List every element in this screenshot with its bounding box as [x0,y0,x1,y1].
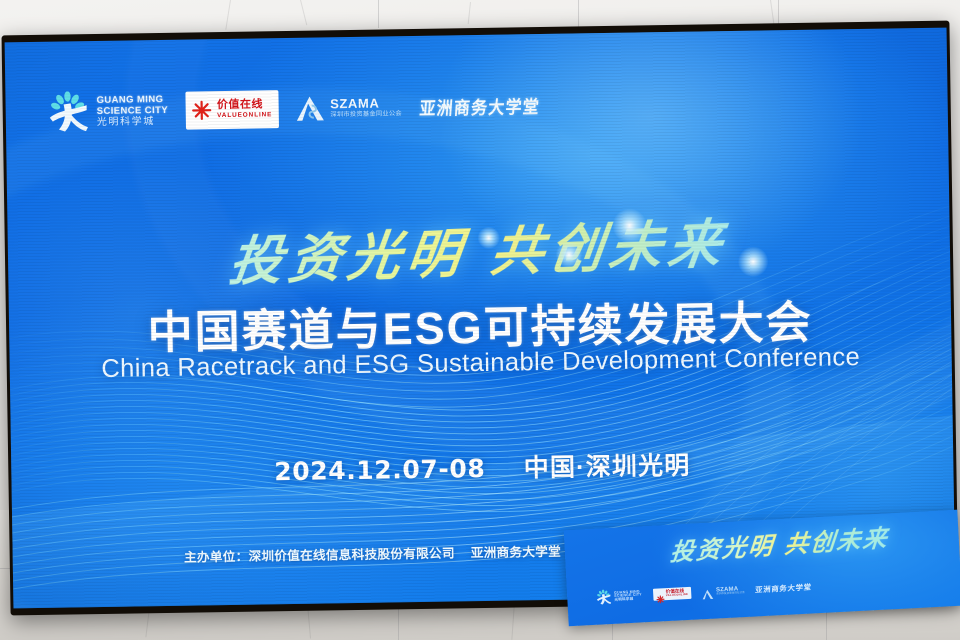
valueonline-star-icon [192,100,212,120]
secondary-logo-guangming: GUANG MING SCIENCE CITY 光明科学城 [595,587,642,605]
logo-valueonline-cn: 价值在线 [217,100,272,112]
secondary-led-panel: 投资光明 共创未来 [564,510,960,626]
organizer-1: 深圳价值在线信息科技股份有限公司 [248,546,455,563]
organizer-label: 主办单位： [184,550,249,565]
logo-guangming-science-city: GUANG MING SCIENCE CITY 光明科学城 [45,88,168,136]
event-place: 中国·深圳光明 [524,452,691,483]
logo-szama-cn: 深圳市投资基金同业公会 [330,111,402,119]
secondary-logo-value-online: 价值在线 VALUEONLINE [653,587,692,601]
organizer-2: 亚洲商务大学堂 [471,545,561,560]
guangming-flower-icon [595,589,613,606]
photo-scene: GUANG MING SCIENCE CITY 光明科学城 [0,0,960,640]
guangming-flower-icon [45,91,92,134]
logo-guangming-line3: 光明科学城 [97,117,168,128]
logo-asia-business-academy: 亚洲商务大学堂 [419,82,540,130]
event-date: 2024.12.07-08 [274,454,486,486]
logo-asia-business-academy-cn: 亚洲商务大学堂 [419,92,541,121]
secondary-logo-szama: SZAMA 深圳市投资基金同业公会 [702,585,745,598]
logo-guangming-line1: GUANG MING [96,95,167,106]
logo-szama-en: SZAMA [330,97,402,112]
logo-szama: SZAMA 深圳市投资基金同业公会 [296,84,402,132]
secondary-panel-logo-bar: GUANG MING SCIENCE CITY 光明科学城 [595,566,948,610]
secondary-logo-guangming-line3: 光明科学城 [614,597,642,602]
logo-value-online: 价值在线 VALUEONLINE [186,90,279,129]
sponsor-logo-bar: GUANG MING SCIENCE CITY 光明科学城 [45,77,606,140]
logo-guangming-line2: SCIENCE CITY [97,105,168,116]
secondary-logo-valueonline-en: VALUEONLINE [666,594,688,598]
szama-triangle-icon [702,586,715,598]
szama-triangle-icon [296,94,326,122]
logo-valueonline-en: VALUEONLINE [217,112,272,120]
secondary-logo-asia-business-academy: 亚洲商务大学堂 [755,581,812,595]
valueonline-star-icon [656,590,664,598]
secondary-logo-szama-cn: 深圳市投资基金同业公会 [716,592,745,596]
